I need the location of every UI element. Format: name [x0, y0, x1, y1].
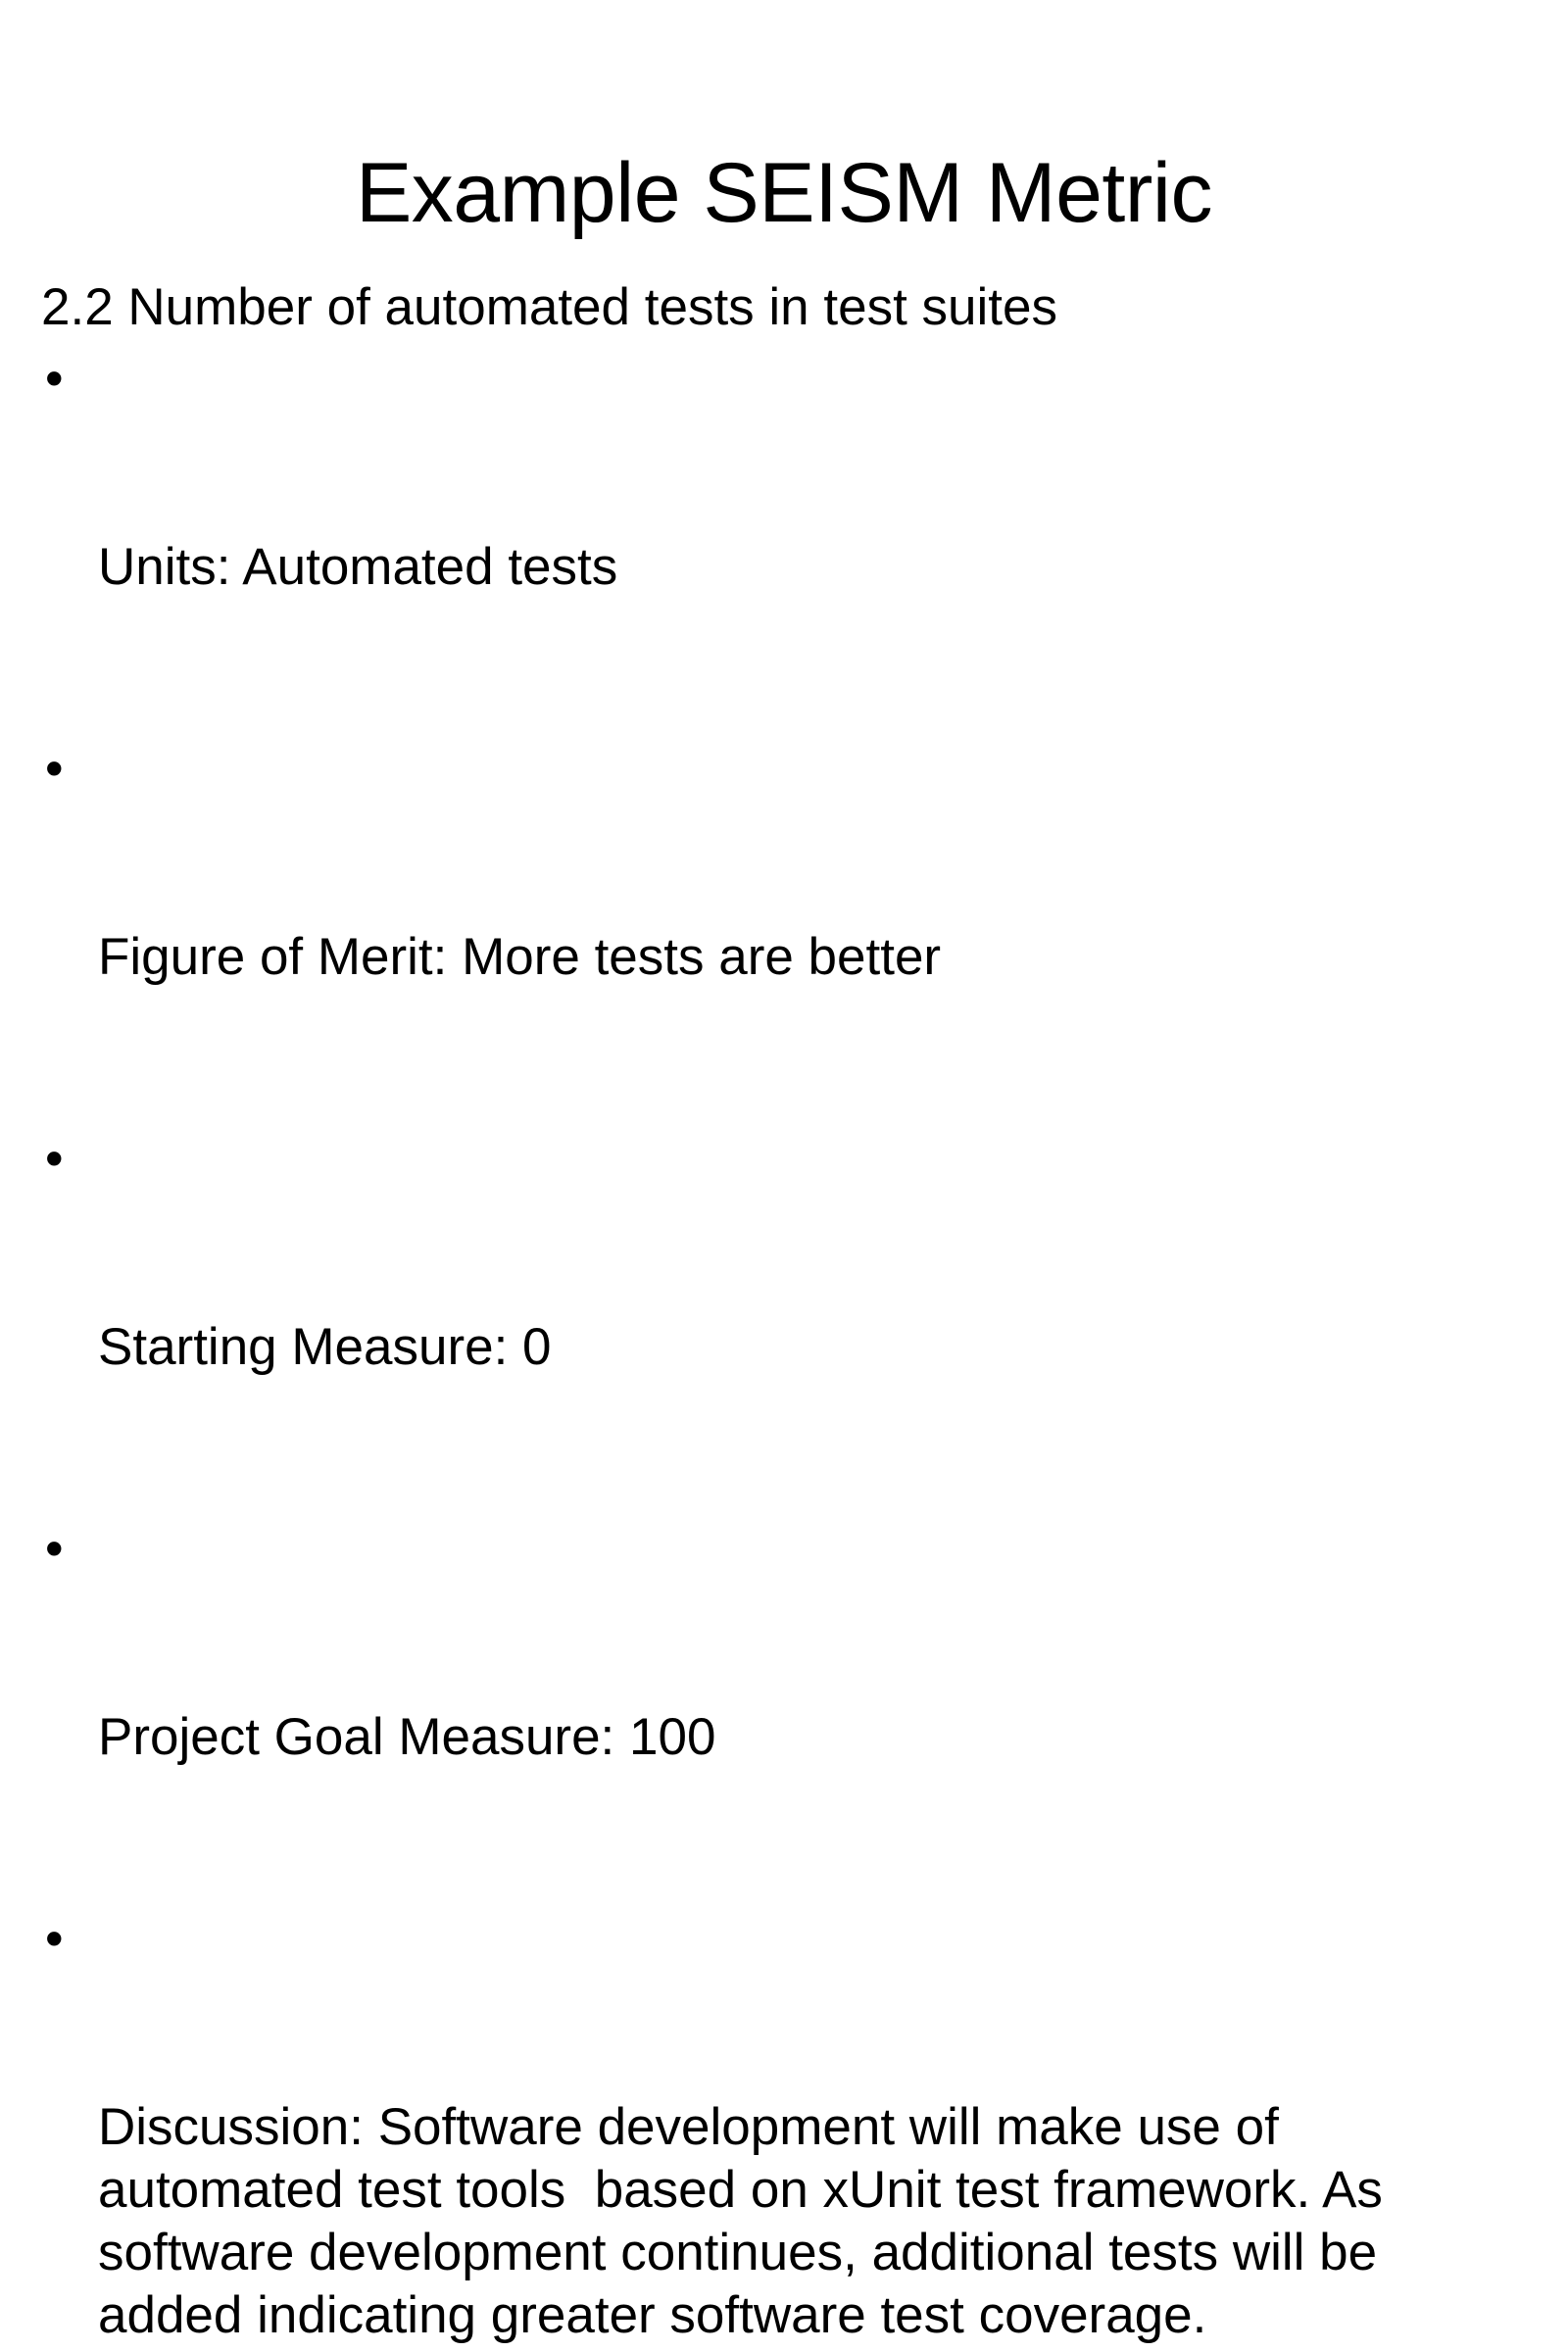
page-title: Example SEISM Metric: [59, 151, 1509, 235]
list-item-project-goal-measure: • Project Goal Measure: 100: [41, 1518, 1531, 1894]
bullet-icon: •: [45, 738, 74, 801]
bullet-icon: •: [45, 1908, 74, 1971]
list-item-starting-measure: • Starting Measure: 0: [41, 1128, 1531, 1504]
list-item-units: • Units: Automated tests: [41, 348, 1531, 724]
list-item-label: Figure of Merit: More tests are better: [98, 926, 1531, 989]
list-item-label: Starting Measure: 0: [98, 1316, 1531, 1379]
list-item-figure-of-merit: • Figure of Merit: More tests are better: [41, 738, 1531, 1114]
list-item-label: Units: Automated tests: [98, 536, 1531, 599]
metric-heading-line: 2.2 Number of automated tests in test su…: [41, 276, 1531, 339]
slide-body: 2.2 Number of automated tests in test su…: [41, 276, 1531, 2352]
bullet-icon: •: [45, 348, 74, 411]
bullet-icon: •: [45, 1518, 74, 1581]
list-item-discussion: • Discussion: Software development will …: [41, 1908, 1531, 2352]
list-item-label: Project Goal Measure: 100: [98, 1706, 1531, 1769]
bullet-icon: •: [45, 1128, 74, 1191]
metric-bullet-list: • Units: Automated tests • Figure of Mer…: [41, 348, 1531, 2352]
list-item-label: Discussion: Software development will ma…: [98, 2096, 1531, 2347]
slide-canvas: Example SEISM Metric 2.2 Number of autom…: [0, 0, 1568, 1176]
